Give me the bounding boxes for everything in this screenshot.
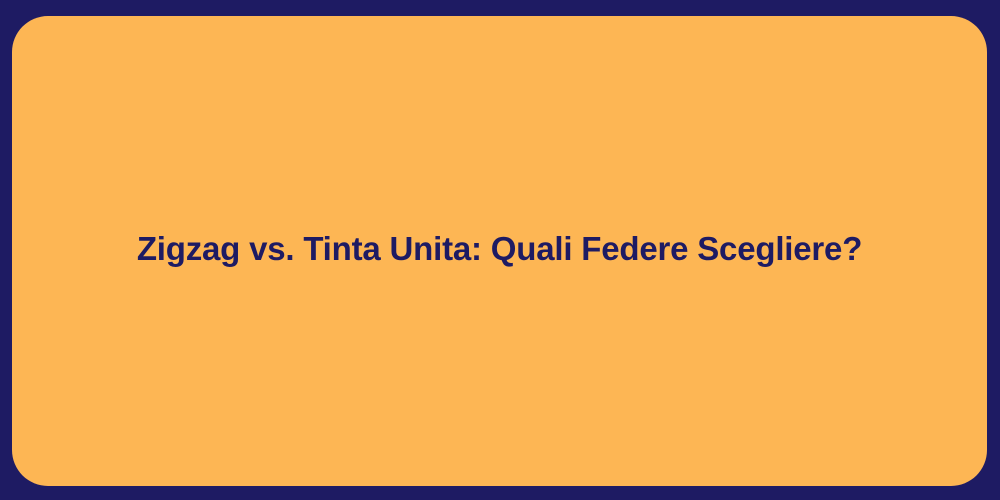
page-title: Zigzag vs. Tinta Unita: Quali Federe Sce…: [97, 229, 902, 269]
banner-root: Zigzag vs. Tinta Unita: Quali Federe Sce…: [0, 0, 1000, 500]
banner-panel: Zigzag vs. Tinta Unita: Quali Federe Sce…: [12, 16, 987, 486]
